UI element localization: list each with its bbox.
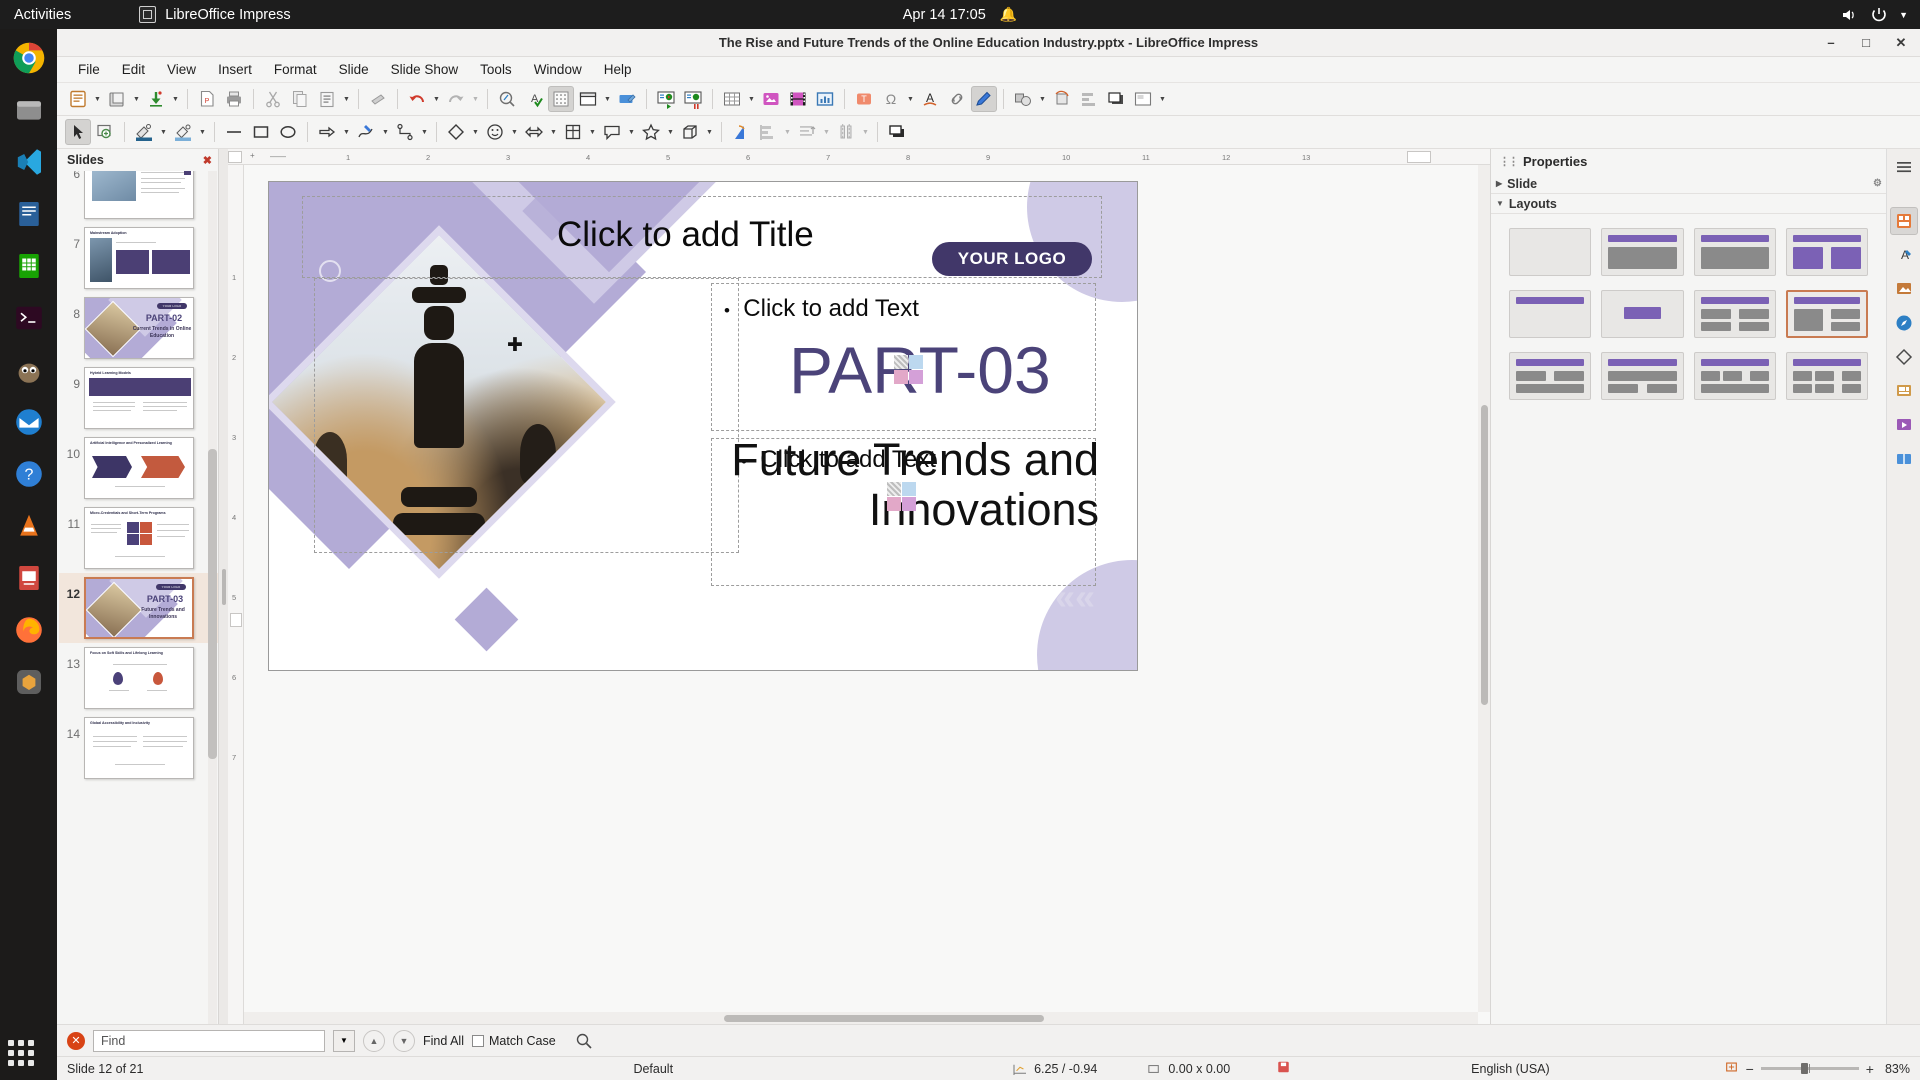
zoom-level[interactable]: 83% <box>1885 1062 1910 1076</box>
sidebar-tab-shapes[interactable] <box>1890 343 1918 371</box>
bg-diamond-bottom <box>455 588 519 652</box>
list-item[interactable]: 14 Global Accessibility and Inclusivity <box>59 713 218 783</box>
canvas-horizontal-scrollbar[interactable] <box>244 1012 1478 1024</box>
insert-object-icons-bottom[interactable] <box>887 482 916 511</box>
thumbnail-part-title: PART-03 <box>134 594 192 604</box>
search-history-dropdown[interactable]: ▼ <box>333 1030 355 1052</box>
layout-option-title-content[interactable] <box>1601 228 1683 276</box>
layout-option-title-two-content[interactable] <box>1786 228 1868 276</box>
standard-toolbar: ▼ ▼ ▼ P ▼ ▼ <box>57 83 1920 116</box>
find-replace-button[interactable] <box>494 86 520 112</box>
clock-label: Apr 14 17:05 <box>903 7 986 23</box>
toolbar-separator <box>844 89 845 109</box>
export-pdf-button[interactable]: P <box>194 86 220 112</box>
zoom-controls: − + 83% <box>1724 1060 1920 1077</box>
dock-item-thunderbird[interactable] <box>8 401 50 443</box>
gnome-top-bar: Activities LibreOffice Impress Apr 14 17… <box>0 0 1920 29</box>
horizontal-ruler[interactable]: + ―― 1 2 3 4 5 6 7 8 9 10 11 12 13 <box>228 149 1490 165</box>
curves-and-polygons-dropdown[interactable]: ▼ <box>380 119 391 145</box>
undo-button[interactable] <box>404 86 430 112</box>
layout-option-three-content-left[interactable] <box>1509 352 1591 400</box>
horizontal-scrollbar-thumb[interactable] <box>724 1015 1044 1022</box>
display-mode-button[interactable] <box>614 86 640 112</box>
toolbar-separator <box>712 89 713 109</box>
paste-button[interactable] <box>314 86 340 112</box>
fill-color-button[interactable] <box>170 119 196 145</box>
drag-grip-icon[interactable]: ⋮⋮ <box>1499 155 1517 168</box>
thumbnail-content: YOUR LOGO PART-03 Future Trends and Inno… <box>86 579 192 637</box>
toolbar-separator <box>397 89 398 109</box>
thumbnail-part-title: PART-02 <box>133 313 193 323</box>
window-controls: – □ ✕ <box>1820 32 1912 54</box>
insert-line-button[interactable] <box>221 119 247 145</box>
slides-list[interactable]: 6 Technological Advancements 7 <box>57 171 218 1024</box>
slides-panel-title: Slides <box>67 153 104 167</box>
zoom-slider-midpoint <box>1809 1064 1810 1073</box>
toolbar-separator <box>307 122 308 142</box>
sidebar-tab-animation[interactable] <box>1890 411 1918 439</box>
menu-insert[interactable]: Insert <box>207 59 263 80</box>
dock-item-vs-code[interactable] <box>8 141 50 183</box>
find-all-button[interactable]: Find All <box>423 1034 464 1048</box>
toolbar-separator <box>358 89 359 109</box>
svg-text:?: ? <box>24 467 33 484</box>
fit-slide-icon[interactable] <box>1724 1060 1739 1077</box>
list-item[interactable]: 9 Hybrid Learning Models <box>59 363 218 433</box>
dock-item-files[interactable] <box>8 89 50 131</box>
connectors-dropdown[interactable]: ▼ <box>419 119 430 145</box>
basic-shapes-button[interactable] <box>443 119 469 145</box>
align-objects-dropdown[interactable]: ▼ <box>782 119 793 145</box>
text-placeholder-1-label: Click to add Text <box>743 295 919 322</box>
menu-slide-show[interactable]: Slide Show <box>380 59 470 80</box>
bell-icon: 🔔 <box>1000 6 1017 23</box>
shadow-button[interactable] <box>1103 86 1129 112</box>
slide-thumbnail[interactable]: Hybrid Learning Models <box>84 367 194 429</box>
panel-splitter[interactable] <box>219 149 228 1024</box>
menu-file[interactable]: File <box>67 59 111 80</box>
logo-label: YOUR LOGO <box>958 249 1066 269</box>
menu-format[interactable]: Format <box>263 59 328 80</box>
close-icon[interactable]: ✖ <box>203 154 212 167</box>
flowchart-dropdown[interactable]: ▼ <box>587 119 598 145</box>
cursor-position: 6.25 / -0.94 <box>1034 1062 1097 1076</box>
insert-shape-dropdown[interactable]: ▼ <box>1037 86 1048 112</box>
dock-item-ubuntu-software[interactable] <box>8 661 50 703</box>
master-slide-name[interactable]: Default <box>623 1062 683 1076</box>
dock-item-libreoffice-impress[interactable] <box>8 557 50 599</box>
cursor-position-field: 6.25 / -0.94 <box>1003 1062 1107 1076</box>
zoom-slider-handle[interactable] <box>1801 1063 1808 1074</box>
match-case-checkbox[interactable]: Match Case <box>472 1034 556 1048</box>
zoom-in-button[interactable]: + <box>1866 1061 1874 1077</box>
sidebar-section-layouts-label: Layouts <box>1509 197 1557 211</box>
list-item-selected[interactable]: 12 YOUR LOGO PART-03 Future Trends and I… <box>59 573 218 643</box>
flowchart-button[interactable] <box>560 119 586 145</box>
impress-icon <box>139 6 156 23</box>
distribute-selection-button[interactable] <box>833 119 859 145</box>
open-document-button[interactable] <box>104 86 130 112</box>
new-document-button[interactable] <box>65 86 91 112</box>
slide-thumbnail[interactable]: Global Accessibility and Inclusivity <box>84 717 194 779</box>
callouts-button[interactable] <box>599 119 625 145</box>
new-document-dropdown[interactable]: ▼ <box>92 86 103 112</box>
menu-view[interactable]: View <box>156 59 207 80</box>
symbol-shapes-dropdown[interactable]: ▼ <box>509 119 520 145</box>
save-document-dropdown[interactable]: ▼ <box>170 86 181 112</box>
find-previous-button[interactable]: ▲ <box>363 1030 385 1052</box>
layout-option-four-content[interactable] <box>1694 352 1776 400</box>
toolbar-separator <box>124 122 125 142</box>
find-next-button[interactable]: ▼ <box>393 1030 415 1052</box>
drawing-toolbar: ▼ ▼ ▼ ▼ ▼ ▼ <box>57 116 1920 149</box>
slide-number: 11 <box>61 507 80 531</box>
sidebar-tab-gallery[interactable] <box>1890 275 1918 303</box>
layouts-grid <box>1491 214 1886 414</box>
slide-edit-area[interactable]: + ―― 1 2 3 4 5 6 7 8 9 10 11 12 13 1 2 <box>228 149 1490 1024</box>
symbol-shapes-button[interactable] <box>482 119 508 145</box>
rectangle-button[interactable] <box>248 119 274 145</box>
thumbnail-title: Hybrid Learning Models <box>90 371 131 375</box>
rotate-button[interactable] <box>1049 86 1075 112</box>
slides-panel-header: Slides ✖ <box>57 149 218 171</box>
menu-tools[interactable]: Tools <box>469 59 523 80</box>
arrange-dropdown[interactable]: ▼ <box>821 119 832 145</box>
line-color-button[interactable] <box>131 119 157 145</box>
match-case-label: Match Case <box>489 1034 556 1048</box>
fill-color-dropdown[interactable]: ▼ <box>197 119 208 145</box>
3d-objects-button[interactable] <box>677 119 703 145</box>
transformations-button[interactable] <box>728 119 754 145</box>
system-status-area[interactable]: ▼ <box>1839 5 1908 25</box>
dock-item-terminal[interactable] <box>8 297 50 339</box>
window-titlebar: The Rise and Future Trends of the Online… <box>57 29 1920 57</box>
close-button[interactable]: ✕ <box>1890 32 1912 54</box>
list-item[interactable]: 7 Mainstream Adoption <box>59 223 218 293</box>
zoom-tool-button[interactable] <box>92 119 118 145</box>
slide-number: 7 <box>61 227 80 251</box>
active-app-indicator[interactable]: LibreOffice Impress <box>139 6 290 23</box>
list-item[interactable]: 13 Focus on Soft Skills and Lifelong Lea… <box>59 643 218 713</box>
block-arrows-dropdown[interactable]: ▼ <box>548 119 559 145</box>
hamburger-menu-icon[interactable] <box>1890 153 1918 181</box>
slide-thumbnail[interactable]: Micro-Credentials and Short-Term Program… <box>84 507 194 569</box>
slide-properties-dropdown[interactable]: ▼ <box>1157 86 1168 112</box>
slide-number: 9 <box>61 367 80 391</box>
toolbar-separator <box>214 122 215 142</box>
insert-text-box-button[interactable]: T <box>851 86 877 112</box>
position-icon <box>1013 1063 1027 1075</box>
menu-help[interactable]: Help <box>593 59 643 80</box>
start-from-current-slide-button[interactable] <box>680 86 706 112</box>
insert-special-character-dropdown[interactable]: ▼ <box>905 86 916 112</box>
3d-objects-dropdown[interactable]: ▼ <box>704 119 715 145</box>
cut-button[interactable] <box>260 86 286 112</box>
dock-item-firefox[interactable] <box>8 609 50 651</box>
quote-mark: «« <box>1055 576 1095 618</box>
slide-number: 14 <box>61 717 80 741</box>
properties-sidebar: ⋮⋮ Properties ✕ ▶ Slide ⚙ ▼ Layouts <box>1490 149 1920 1024</box>
thumbnail-content: YOUR LOGO PART-02 Current Trends in Onli… <box>85 298 193 358</box>
vertical-ruler[interactable]: 1 2 3 4 5 6 7 <box>228 165 244 1024</box>
stars-button[interactable] <box>638 119 664 145</box>
close-find-icon[interactable]: ✕ <box>67 1032 85 1050</box>
insert-shape-button[interactable] <box>1010 86 1036 112</box>
layout-option-three-content-right[interactable] <box>1601 352 1683 400</box>
insert-special-character-button[interactable]: Ω <box>878 86 904 112</box>
dock-item-vlc[interactable] <box>8 505 50 547</box>
sidebar-icon-rail: A <box>1886 149 1920 1024</box>
slides-panel-scrollbar-thumb[interactable] <box>208 449 217 759</box>
thumbnail-image <box>92 171 136 201</box>
language-status[interactable]: English (USA) <box>1461 1062 1560 1076</box>
volume-icon <box>1839 5 1859 25</box>
dock-item-google-chrome[interactable] <box>8 37 50 79</box>
svg-text:T: T <box>861 94 867 104</box>
minimize-button[interactable]: – <box>1820 32 1842 54</box>
distribute-selection-dropdown[interactable]: ▼ <box>860 119 871 145</box>
thumbnail-logo: YOUR LOGO <box>156 584 186 590</box>
toolbar-separator <box>1003 89 1004 109</box>
insert-table-dropdown[interactable]: ▼ <box>746 86 757 112</box>
sidebar-section-layouts[interactable]: ▼ Layouts <box>1491 194 1920 214</box>
slide-number: 12 <box>61 577 80 601</box>
search-input[interactable]: Find <box>93 1030 325 1052</box>
dock-item-libreoffice-writer[interactable] <box>8 193 50 235</box>
power-icon <box>1869 5 1889 25</box>
slide-properties-button[interactable] <box>1130 86 1156 112</box>
display-grid-button[interactable] <box>548 86 574 112</box>
thumbnail-subtitle: Future Trends and Innovations <box>130 607 192 622</box>
list-item[interactable]: 10 Artificial Intelligence and Personali… <box>59 433 218 503</box>
spelling-button[interactable]: A <box>521 86 547 112</box>
slide-thumbnail[interactable]: YOUR LOGO PART-02 Current Trends in Onli… <box>84 297 194 359</box>
sidebar-tab-styles[interactable]: A <box>1890 241 1918 269</box>
dock-item-libreoffice-calc[interactable] <box>8 245 50 287</box>
splitter-grip <box>222 569 226 605</box>
thumbnail-image <box>90 238 112 282</box>
undo-dropdown[interactable]: ▼ <box>431 86 442 112</box>
list-item[interactable]: 11 Micro-Credentials and Short-Term Prog… <box>59 503 218 573</box>
copy-button[interactable] <box>287 86 313 112</box>
slide-thumbnail[interactable]: Technological Advancements <box>84 171 194 219</box>
size-icon <box>1147 1063 1161 1075</box>
gear-icon[interactable]: ⚙ <box>1873 178 1882 189</box>
sidebar-section-slide[interactable]: ▶ Slide ⚙ <box>1491 174 1920 194</box>
zoom-slider[interactable] <box>1761 1067 1859 1070</box>
curves-and-polygons-button[interactable] <box>353 119 379 145</box>
sidebar-tab-navigator[interactable] <box>1890 309 1918 337</box>
headline[interactable]: Future Trends and Innovations <box>589 435 1099 534</box>
search-input-text: Find <box>101 1034 125 1048</box>
insert-object-icons-top[interactable] <box>894 355 923 384</box>
thumbnail-title: Artificial Intelligence and Personalized… <box>90 441 172 445</box>
ubuntu-dock: ? <box>0 29 57 1080</box>
arrow-shapes-button[interactable] <box>314 119 340 145</box>
checkbox-box <box>472 1035 484 1047</box>
toolbar-separator <box>436 122 437 142</box>
slide-thumbnail[interactable]: Focus on Soft Skills and Lifelong Learni… <box>84 647 194 709</box>
open-document-dropdown[interactable]: ▼ <box>131 86 142 112</box>
slide-number: 6 <box>61 171 80 181</box>
slides-panel: Slides ✖ 6 Technological Advancements <box>57 149 219 1024</box>
title-placeholder-text[interactable]: Click to add Title <box>557 215 814 255</box>
insert-image-button[interactable] <box>758 86 784 112</box>
toolbar-separator <box>721 122 722 142</box>
sidebar-tab-slide-transition[interactable] <box>1890 445 1918 473</box>
arrange-button[interactable] <box>794 119 820 145</box>
show-draw-functions-button[interactable] <box>971 86 997 112</box>
save-document-button[interactable] <box>143 86 169 112</box>
connectors-button[interactable] <box>392 119 418 145</box>
status-bar: Slide 12 of 21 Default 6.25 / -0.94 0.00… <box>57 1056 1920 1080</box>
object-size: 0.00 x 0.00 <box>1168 1062 1230 1076</box>
chevron-down-icon: ▼ <box>1899 10 1908 20</box>
arrow-shapes-dropdown[interactable]: ▼ <box>341 119 352 145</box>
layout-option-two-content-stacked-selected[interactable] <box>1786 290 1868 338</box>
slide-thumbnail[interactable]: Mainstream Adoption <box>84 227 194 289</box>
display-views-dropdown[interactable]: ▼ <box>602 86 613 112</box>
toolbar-separator <box>877 122 878 142</box>
insert-table-button[interactable] <box>719 86 745 112</box>
thumbnail-title: Mainstream Adoption <box>90 231 127 235</box>
align-objects-button[interactable] <box>755 119 781 145</box>
insert-audio-video-button[interactable] <box>785 86 811 112</box>
activities-button[interactable]: Activities <box>14 7 71 23</box>
save-status-icon[interactable] <box>1266 1060 1301 1077</box>
redo-dropdown[interactable]: ▼ <box>470 86 481 112</box>
svg-text:A: A <box>1901 248 1909 262</box>
list-item[interactable]: 6 Technological Advancements <box>59 171 218 223</box>
thumbnail-subtitle: Current Trends in Online Education <box>129 326 193 341</box>
print-button[interactable] <box>221 86 247 112</box>
slide-thumbnail[interactable]: Artificial Intelligence and Personalized… <box>84 437 194 499</box>
thumbnail-title: Global Accessibility and Inclusivity <box>90 721 150 725</box>
text-placeholder-1[interactable]: • Click to add Text <box>724 295 919 323</box>
sidebar-tab-properties[interactable] <box>1890 207 1918 235</box>
redo-button[interactable] <box>443 86 469 112</box>
sidebar-title: Properties <box>1523 154 1587 169</box>
start-from-first-slide-button[interactable] <box>653 86 679 112</box>
line-color-dropdown[interactable]: ▼ <box>158 119 169 145</box>
menu-slide[interactable]: Slide <box>328 59 380 80</box>
grid-dots-icon <box>8 1040 34 1066</box>
toolbar-separator <box>253 89 254 109</box>
active-app-label: LibreOffice Impress <box>165 7 290 23</box>
sidebar-header: ⋮⋮ Properties ✕ <box>1491 149 1920 174</box>
cursor-crosshair: ✚ <box>507 334 523 357</box>
find-toolbar: ✕ Find ▼ ▲ ▼ Find All Match Case <box>57 1024 1920 1056</box>
dock-item-gimp[interactable] <box>8 349 50 391</box>
toolbar-separator <box>487 89 488 109</box>
svg-text:Ω: Ω <box>886 91 896 107</box>
maximize-button[interactable]: □ <box>1855 32 1877 54</box>
select-tool-button[interactable] <box>65 119 91 145</box>
insert-hyperlink-button[interactable] <box>944 86 970 112</box>
headline-line-1: Future Trends and <box>589 435 1099 485</box>
work-area: Slides ✖ 6 Technological Advancements <box>57 149 1920 1024</box>
toolbar-separator <box>187 89 188 109</box>
block-arrows-button[interactable] <box>521 119 547 145</box>
layout-option-blank[interactable] <box>1509 228 1591 276</box>
slide-number: 10 <box>61 437 80 461</box>
object-size-field: 0.00 x 0.00 <box>1137 1062 1240 1076</box>
stars-dropdown[interactable]: ▼ <box>665 119 676 145</box>
thumbnail-logo: YOUR LOGO <box>157 303 187 309</box>
menu-window[interactable]: Window <box>523 59 593 80</box>
chevron-down-icon: ▼ <box>1496 199 1504 208</box>
slide-thumbnail-current[interactable]: YOUR LOGO PART-03 Future Trends and Inno… <box>84 577 194 639</box>
slide-canvas[interactable]: Click to add Title YOUR LOGO • Click to … <box>268 181 1138 671</box>
menu-edit[interactable]: Edit <box>111 59 156 80</box>
insert-fontwork-button[interactable]: A <box>917 86 943 112</box>
layout-option-six-content[interactable] <box>1786 352 1868 400</box>
slide-number: 8 <box>61 297 80 321</box>
clone-formatting-button[interactable] <box>365 86 391 112</box>
thumbnail-title: Micro-Credentials and Short-Term Program… <box>90 511 166 515</box>
callouts-dropdown[interactable]: ▼ <box>626 119 637 145</box>
layout-option-title-only[interactable] <box>1509 290 1591 338</box>
find-and-replace-icon[interactable] <box>574 1031 594 1051</box>
display-views-button[interactable] <box>575 86 601 112</box>
align-objects-button[interactable] <box>1076 86 1102 112</box>
show-applications-button[interactable] <box>8 1040 34 1066</box>
paste-dropdown[interactable]: ▼ <box>341 86 352 112</box>
shadow-button[interactable] <box>884 119 910 145</box>
libreoffice-impress-window: The Rise and Future Trends of the Online… <box>57 29 1920 1080</box>
list-item[interactable]: 8 YOUR LOGO PART-02 Current Trends in On… <box>59 293 218 363</box>
zoom-out-button[interactable]: − <box>1746 1061 1754 1077</box>
dock-item-help[interactable]: ? <box>8 453 50 495</box>
clock-button[interactable]: Apr 14 17:05 🔔 <box>903 6 1017 23</box>
layout-option-centered-text[interactable] <box>1601 290 1683 338</box>
layout-option-title-content-2[interactable] <box>1694 228 1776 276</box>
menubar: File Edit View Insert Format Slide Slide… <box>57 57 1920 83</box>
basic-shapes-dropdown[interactable]: ▼ <box>470 119 481 145</box>
sidebar-tab-master-slides[interactable] <box>1890 377 1918 405</box>
thumbnail-title: Focus on Soft Skills and Lifelong Learni… <box>90 651 163 655</box>
vertical-scrollbar-thumb[interactable] <box>1481 405 1488 705</box>
headline-line-2: Innovations <box>589 485 1099 535</box>
sidebar-section-slide-label: Slide <box>1507 177 1537 191</box>
chevron-right-icon: ▶ <box>1496 179 1502 188</box>
canvas-vertical-scrollbar[interactable] <box>1478 165 1490 1012</box>
ellipse-button[interactable] <box>275 119 301 145</box>
toolbar-separator <box>646 89 647 109</box>
logo-badge[interactable]: YOUR LOGO <box>932 242 1092 276</box>
svg-text:P: P <box>205 98 210 105</box>
layout-option-two-content-split[interactable] <box>1694 290 1776 338</box>
slide-number: 13 <box>61 647 80 671</box>
window-title: The Rise and Future Trends of the Online… <box>719 35 1258 50</box>
insert-chart-button[interactable] <box>812 86 838 112</box>
slide-info: Slide 12 of 21 <box>57 1062 153 1076</box>
